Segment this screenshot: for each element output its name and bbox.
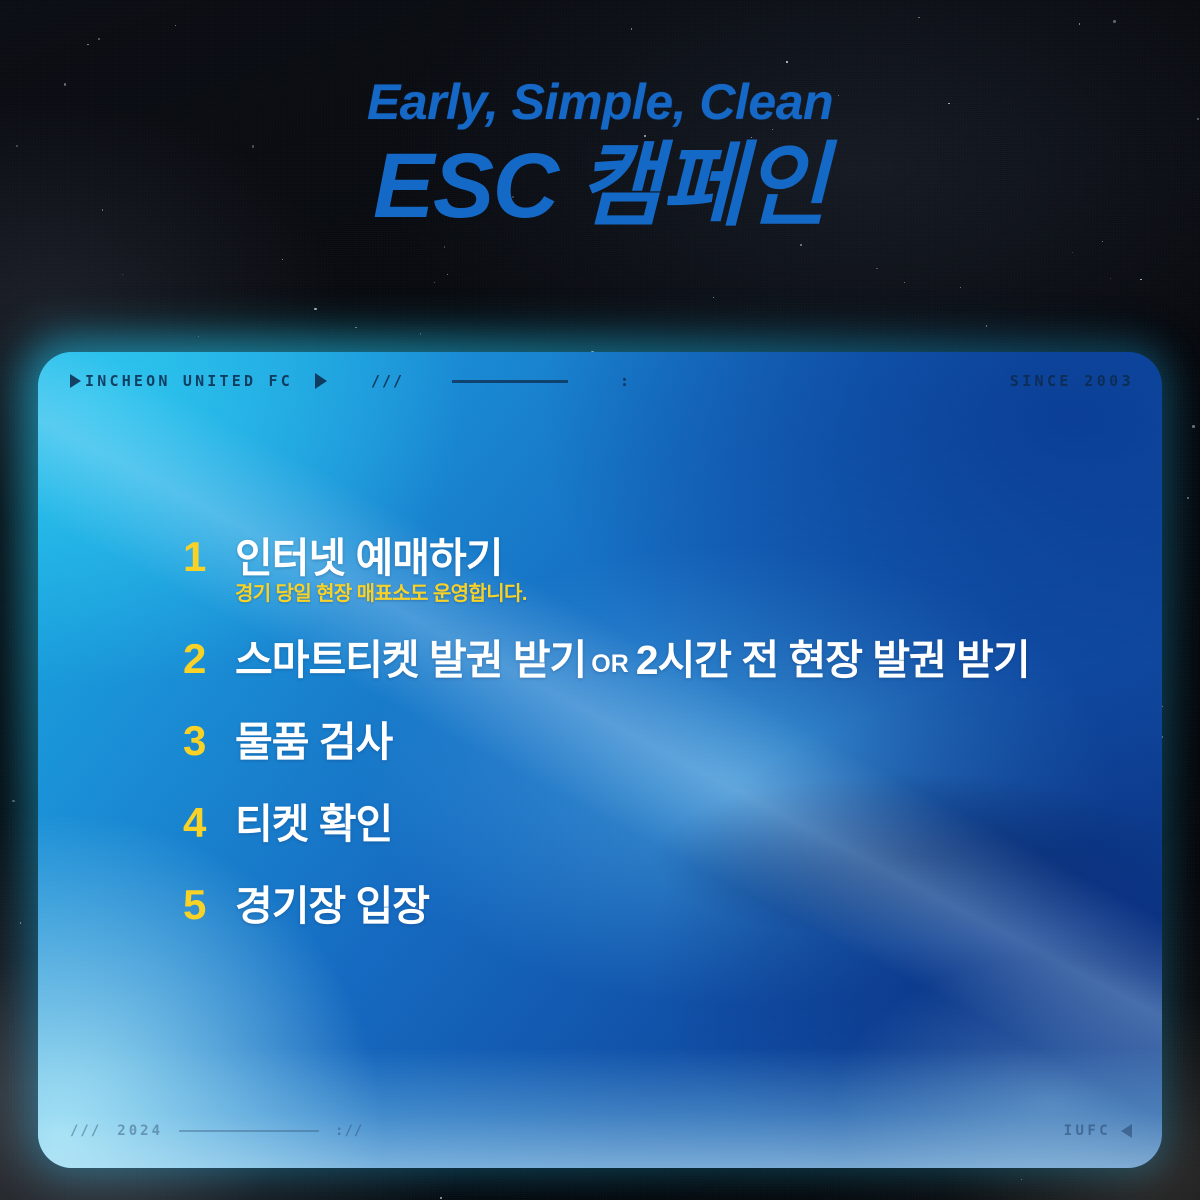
year-label: 2024 (117, 1123, 163, 1139)
card-footer-strip: /// 2024 :// IUFC (70, 1120, 1132, 1142)
step-content: 경기장 입장 (235, 882, 1122, 930)
list-item: 1 인터넷 예매하기 경기 당일 현장 매표소도 운영합니다. (183, 534, 1122, 608)
brand-label: INCHEON UNITED FC (85, 372, 293, 390)
step-title: 경기장 입장 (235, 882, 1122, 930)
list-item: 4 티켓 확인 (183, 800, 1122, 848)
list-item: 2 스마트티켓 발권 받기OR2시간 전 현장 발권 받기 (183, 636, 1122, 688)
step-content: 스마트티켓 발권 받기OR2시간 전 현장 발권 받기 (235, 636, 1122, 688)
list-item: 5 경기장 입장 (183, 882, 1122, 930)
step-title: 물품 검사 (235, 718, 1122, 766)
step-number: 4 (183, 800, 235, 846)
colon-mark: :// (335, 1123, 363, 1139)
step-content: 물품 검사 (235, 718, 1122, 766)
step-number: 3 (183, 718, 235, 764)
step-number: 2 (183, 636, 235, 682)
steps-list: 1 인터넷 예매하기 경기 당일 현장 매표소도 운영합니다. 2 스마트티켓 … (183, 534, 1122, 930)
rule-line-icon (452, 380, 568, 383)
slash-marks: /// (70, 1123, 101, 1139)
headline-block: Early, Simple, Clean ESC캠페인 (0, 76, 1200, 236)
step-content: 인터넷 예매하기 경기 당일 현장 매표소도 운영합니다. (235, 534, 1122, 608)
step-title-part-b: 2시간 전 현장 발권 받기 (636, 637, 1030, 683)
step-number: 1 (183, 534, 235, 580)
poster-stage: Early, Simple, Clean ESC캠페인 INCHEON UNIT… (0, 0, 1200, 1200)
rule-line-icon (179, 1130, 319, 1132)
step-content: 티켓 확인 (235, 800, 1122, 848)
headline-title-ko: 캠페인 (578, 135, 827, 237)
info-card: INCHEON UNITED FC /// : SINCE 2003 1 인터넷… (38, 352, 1162, 1168)
step-title-part-a: 스마트티켓 발권 받기 (235, 637, 586, 683)
step-title: 인터넷 예매하기 (235, 534, 1122, 582)
play-triangle-icon (315, 373, 327, 389)
card-bottom-fade (38, 1048, 1162, 1168)
iufc-mark: IUFC (1064, 1123, 1111, 1139)
headline-title: ESC캠페인 (0, 137, 1200, 236)
step-connector: OR (591, 650, 629, 678)
colon-mark: : (620, 372, 629, 390)
step-number: 5 (183, 882, 235, 928)
headline-kicker: Early, Simple, Clean (0, 76, 1200, 129)
step-subtitle: 경기 당일 현장 매표소도 운영합니다. (235, 580, 1122, 608)
play-triangle-icon (70, 374, 81, 388)
play-triangle-left-icon (1121, 1124, 1132, 1138)
list-item: 3 물품 검사 (183, 718, 1122, 766)
step-title: 스마트티켓 발권 받기OR2시간 전 현장 발권 받기 (235, 636, 1122, 688)
since-label: SINCE 2003 (1010, 372, 1134, 390)
card-header-strip: INCHEON UNITED FC /// : SINCE 2003 (70, 368, 1134, 394)
slash-marks: /// (371, 372, 404, 390)
headline-title-en: ESC (373, 135, 558, 237)
step-title: 티켓 확인 (235, 800, 1122, 848)
